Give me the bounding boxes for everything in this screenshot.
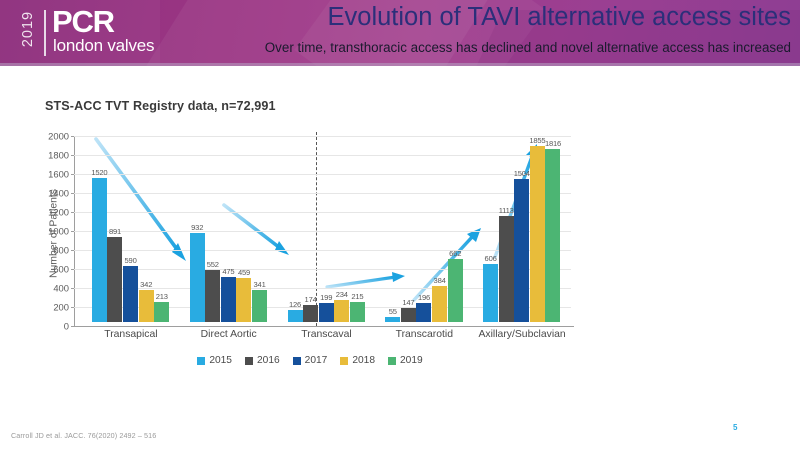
y-axis-tick: 1800: [33, 150, 69, 161]
legend-label: 2016: [257, 355, 280, 366]
y-axis-tick: 1200: [33, 207, 69, 218]
y-axis-tick-mark: [71, 155, 74, 156]
legend-item-2015[interactable]: 2015: [197, 355, 232, 366]
bar-group-direct-aortic: 932552475459341Direct Aortic: [190, 132, 268, 322]
y-axis-tick-mark: [71, 136, 74, 137]
bar-value-label: 199: [320, 293, 332, 302]
bar-2015-transcarotid: 55: [385, 317, 400, 322]
logo-brand-pcr: PCR: [52, 5, 114, 39]
y-axis-tick-mark: [71, 212, 74, 213]
x-axis-category-label: Transcarotid: [396, 329, 453, 340]
bar-group-transcaval: 126174199234215Transcaval: [288, 132, 366, 322]
legend-item-2019[interactable]: 2019: [388, 355, 423, 366]
bar-value-label: 1816: [545, 139, 561, 148]
bar-value-label: 932: [191, 223, 203, 232]
bar-2017-transcaval: 199: [319, 303, 334, 322]
legend-item-2017[interactable]: 2017: [293, 355, 328, 366]
bar-value-label: 606: [485, 254, 497, 263]
y-axis-tick-mark: [71, 288, 74, 289]
bar-value-label: 126: [289, 300, 301, 309]
bar-value-label: 147: [402, 298, 414, 307]
chart-caption: STS-ACC TVT Registry data, n=72,991: [45, 99, 276, 113]
bar-2019-transcarotid: 662: [448, 259, 463, 322]
y-axis-tick: 600: [33, 264, 69, 275]
bar-value-label: 662: [449, 249, 461, 258]
bar-value-label: 174: [305, 295, 317, 304]
bar-group-transapical: 1520891590342213Transapical: [92, 132, 170, 322]
bar-value-label: 1113: [499, 206, 514, 215]
bar-2018-transapical: 342: [139, 290, 154, 322]
y-axis-tick-mark: [71, 269, 74, 270]
bar-2015-transapical: 1520: [92, 178, 107, 322]
y-axis-tick: 400: [33, 283, 69, 294]
bar-2019-axillary-subclavian: 1816: [545, 149, 560, 322]
legend-item-2016[interactable]: 2016: [245, 355, 280, 366]
bar-value-label: 1504: [514, 169, 530, 178]
legend-swatch-2017: [293, 357, 301, 365]
page-subtitle: Over time, transthoracic access has decl…: [265, 40, 791, 55]
pcr-london-valves-logo: 2019 PCR london valves: [14, 7, 174, 59]
bar-value-label: 891: [109, 227, 121, 236]
y-axis-tick-mark: [71, 250, 74, 251]
bar-value-label: 234: [336, 290, 348, 299]
footer-citation: Carroll JD et al. JACC. 76(2020) 2492 – …: [11, 431, 156, 440]
legend-item-2018[interactable]: 2018: [340, 355, 375, 366]
bar-value-label: 590: [125, 256, 137, 265]
bar-value-label: 213: [156, 292, 168, 301]
bar-value-label: 196: [418, 293, 430, 302]
y-axis-tick: 1600: [33, 169, 69, 180]
bar-value-label: 215: [351, 292, 363, 301]
bar-value-label: 384: [434, 276, 446, 285]
slide-header: 2019 PCR london valves Evolution of TAVI…: [0, 0, 800, 66]
bar-2019-transcaval: 215: [350, 302, 365, 322]
bar-value-label: 1855: [529, 136, 545, 145]
bar-2017-transapical: 590: [123, 266, 138, 322]
legend-swatch-2016: [245, 357, 253, 365]
y-axis-tick-mark: [71, 193, 74, 194]
y-axis-tick-mark: [71, 174, 74, 175]
legend-label: 2015: [209, 355, 232, 366]
bar-value-label: 342: [140, 280, 152, 289]
bar-value-label: 1520: [91, 168, 107, 177]
x-axis-line: [74, 326, 574, 327]
y-axis-tick-mark: [71, 231, 74, 232]
bar-2015-direct-aortic: 932: [190, 233, 205, 322]
bar-2016-transcarotid: 147: [401, 308, 416, 322]
bar-2015-transcaval: 126: [288, 310, 303, 322]
bar-value-label: 341: [254, 280, 266, 289]
bar-2018-axillary-subclavian: 1855: [530, 146, 545, 322]
bar-2019-direct-aortic: 341: [252, 290, 267, 322]
page-title: Evolution of TAVI alternative access sit…: [328, 3, 791, 32]
x-axis-category-label: Transapical: [104, 329, 157, 340]
logo-brand-subtitle: london valves: [53, 36, 154, 56]
chart-plot-area: Number of Patients: [74, 132, 571, 322]
bar-value-label: 552: [207, 260, 219, 269]
bar-2018-transcaval: 234: [334, 300, 349, 322]
bar-group-axillary-subclavian: 6061113150418551816Axillary/Subclavian: [483, 132, 561, 322]
logo-divider: [44, 10, 46, 56]
bar-2017-transcarotid: 196: [416, 303, 431, 322]
bar-2016-transcaval: 174: [303, 305, 318, 322]
bar-value-label: 55: [389, 307, 397, 316]
x-axis-category-label: Transcaval: [301, 329, 351, 340]
chart-legend: 20152016201720182019: [40, 355, 580, 366]
y-axis-tick: 2000: [33, 131, 69, 142]
legend-label: 2018: [352, 355, 375, 366]
bar-2018-direct-aortic: 459: [236, 278, 251, 322]
bar-2016-transapical: 891: [107, 237, 122, 322]
x-axis-category-label: Axillary/Subclavian: [478, 329, 565, 340]
y-axis-tick: 0: [33, 321, 69, 332]
y-axis-tick: 1000: [33, 226, 69, 237]
bar-2018-transcarotid: 384: [432, 286, 447, 322]
y-axis-tick-mark: [71, 326, 74, 327]
y-axis-tick-mark: [71, 307, 74, 308]
bar-chart: Number of Patients: [40, 128, 580, 380]
header-underline: [0, 63, 800, 66]
bar-2015-axillary-subclavian: 606: [483, 264, 498, 322]
legend-swatch-2018: [340, 357, 348, 365]
y-axis-tick: 1400: [33, 188, 69, 199]
y-axis-tick: 800: [33, 245, 69, 256]
bar-value-label: 475: [222, 267, 234, 276]
bar-2019-transapical: 213: [154, 302, 169, 322]
legend-swatch-2019: [388, 357, 396, 365]
bar-group-transcarotid: 55147196384662Transcarotid: [385, 132, 463, 322]
bar-2016-axillary-subclavian: 1113: [499, 216, 514, 322]
bar-2017-direct-aortic: 475: [221, 277, 236, 322]
legend-swatch-2015: [197, 357, 205, 365]
bar-2017-axillary-subclavian: 1504: [514, 179, 529, 322]
y-axis-tick: 200: [33, 302, 69, 313]
bar-value-label: 459: [238, 268, 250, 277]
x-axis-category-label: Direct Aortic: [201, 329, 257, 340]
bar-2016-direct-aortic: 552: [205, 270, 220, 322]
legend-label: 2017: [305, 355, 328, 366]
legend-label: 2019: [400, 355, 423, 366]
page-number: 5: [733, 423, 737, 432]
logo-year: 2019: [20, 6, 36, 52]
